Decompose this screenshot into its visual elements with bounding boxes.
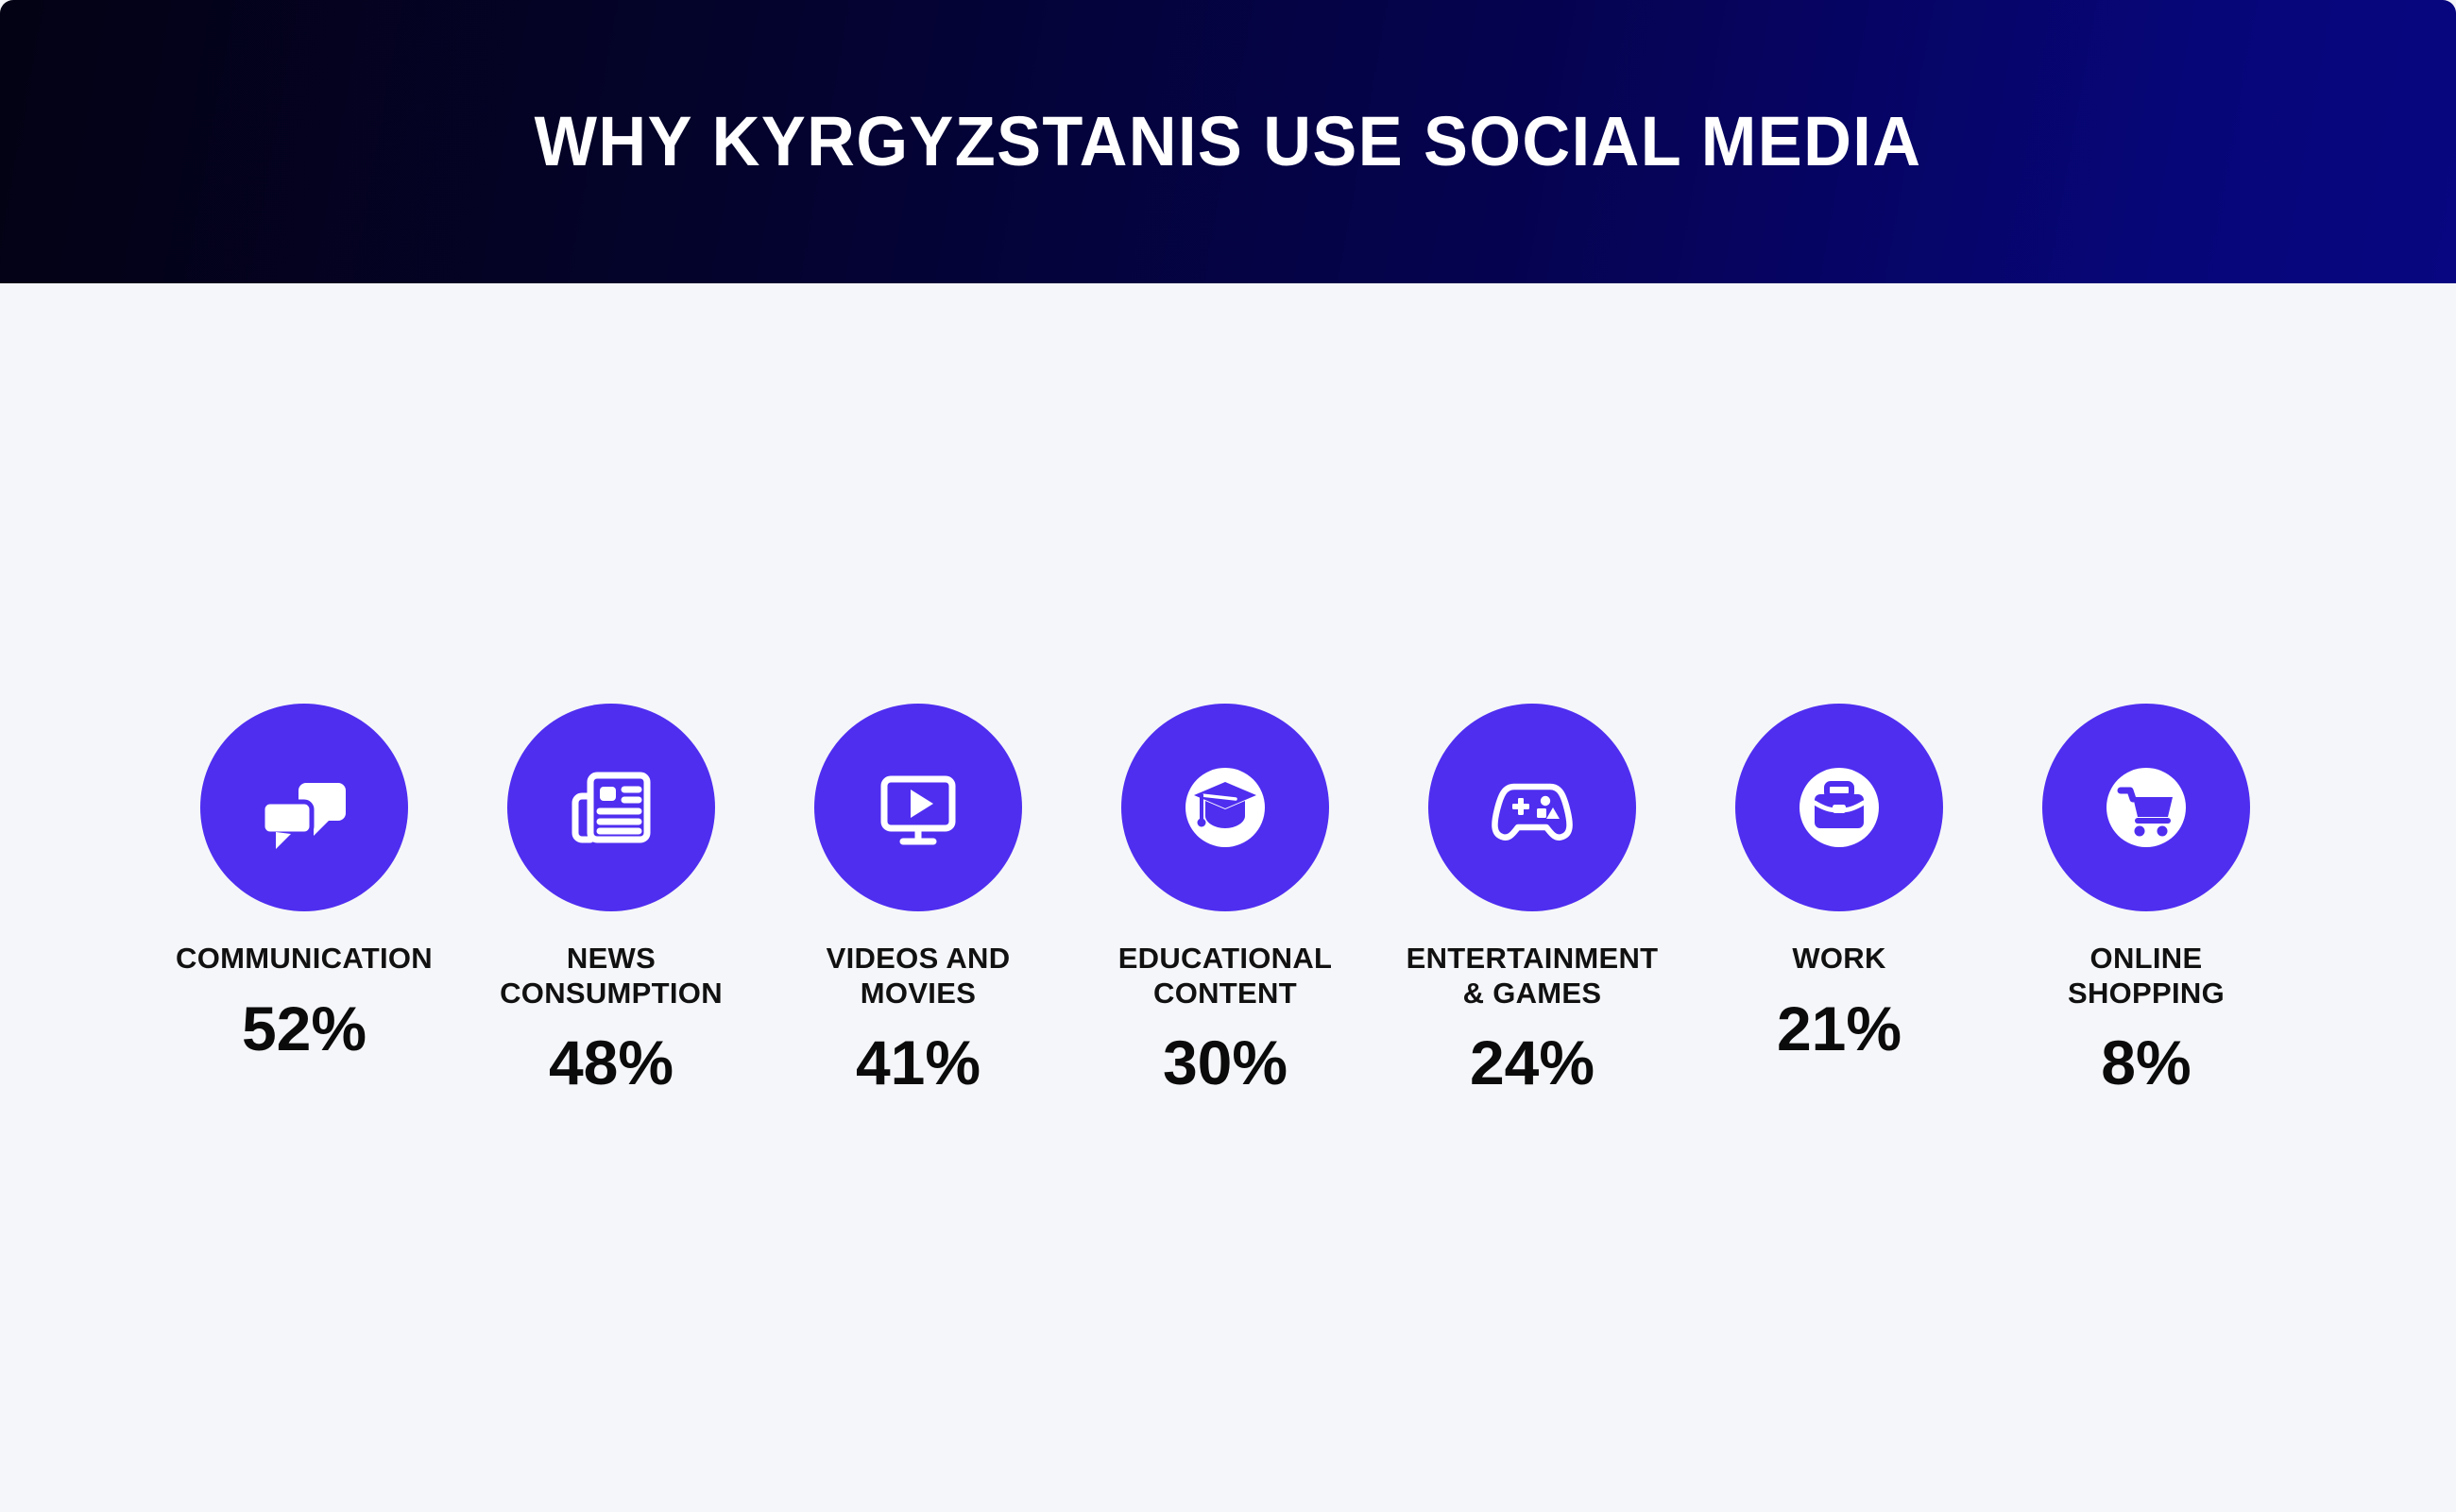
infographic-root: WHY KYRGYZSTANIS USE SOCIAL MEDIA COMMUN… bbox=[0, 0, 2456, 1512]
stat-item-online-shopping[interactable]: ONLINE SHOPPING 8% bbox=[1995, 704, 2297, 1094]
stat-value: 41% bbox=[856, 1031, 981, 1094]
stats-row: COMMUNICATION 52% bbox=[153, 704, 2297, 1094]
stat-label: COMMUNICATION bbox=[176, 942, 433, 977]
graduation-cap-icon bbox=[1173, 756, 1277, 859]
stat-item-educational-content[interactable]: EDUCATIONAL CONTENT 30% bbox=[1074, 704, 1376, 1094]
briefcase-icon bbox=[1787, 756, 1891, 859]
stat-item-news-consumption[interactable]: NEWS CONSUMPTION 48% bbox=[460, 704, 762, 1094]
stat-label: VIDEOS AND MOVIES bbox=[827, 942, 1011, 1011]
stat-item-videos-and-movies[interactable]: VIDEOS AND MOVIES 41% bbox=[767, 704, 1069, 1094]
stat-value: 21% bbox=[1777, 997, 1902, 1060]
stat-value: 48% bbox=[549, 1031, 674, 1094]
chat-bubbles-icon bbox=[255, 758, 353, 857]
header-banner: WHY KYRGYZSTANIS USE SOCIAL MEDIA bbox=[0, 0, 2456, 283]
stat-label: ENTERTAINMENT & GAMES bbox=[1407, 942, 1659, 1011]
stat-value: 30% bbox=[1163, 1031, 1288, 1094]
stat-value: 52% bbox=[242, 997, 367, 1060]
gamepad-icon bbox=[1483, 758, 1581, 857]
icon-circle-videos-and-movies bbox=[814, 704, 1022, 911]
stat-label: NEWS CONSUMPTION bbox=[500, 942, 723, 1011]
page-title: WHY KYRGYZSTANIS USE SOCIAL MEDIA bbox=[535, 107, 1922, 177]
stat-label: EDUCATIONAL CONTENT bbox=[1118, 942, 1333, 1011]
icon-circle-entertainment-and-games bbox=[1428, 704, 1636, 911]
icon-circle-online-shopping bbox=[2042, 704, 2250, 911]
stat-item-communication[interactable]: COMMUNICATION 52% bbox=[153, 704, 455, 1060]
stat-value: 24% bbox=[1470, 1031, 1595, 1094]
icon-circle-communication bbox=[200, 704, 408, 911]
stat-value: 8% bbox=[2101, 1031, 2191, 1094]
newspaper-icon bbox=[564, 760, 658, 855]
icon-circle-educational-content bbox=[1121, 704, 1329, 911]
stat-item-work[interactable]: WORK 21% bbox=[1688, 704, 1990, 1060]
icon-circle-news-consumption bbox=[507, 704, 715, 911]
shopping-cart-icon bbox=[2094, 756, 2198, 859]
stat-label: ONLINE SHOPPING bbox=[2068, 942, 2225, 1011]
stat-label: WORK bbox=[1792, 942, 1885, 977]
stat-item-entertainment-and-games[interactable]: ENTERTAINMENT & GAMES 24% bbox=[1381, 704, 1683, 1094]
icon-circle-work bbox=[1735, 704, 1943, 911]
monitor-play-icon bbox=[871, 760, 965, 855]
